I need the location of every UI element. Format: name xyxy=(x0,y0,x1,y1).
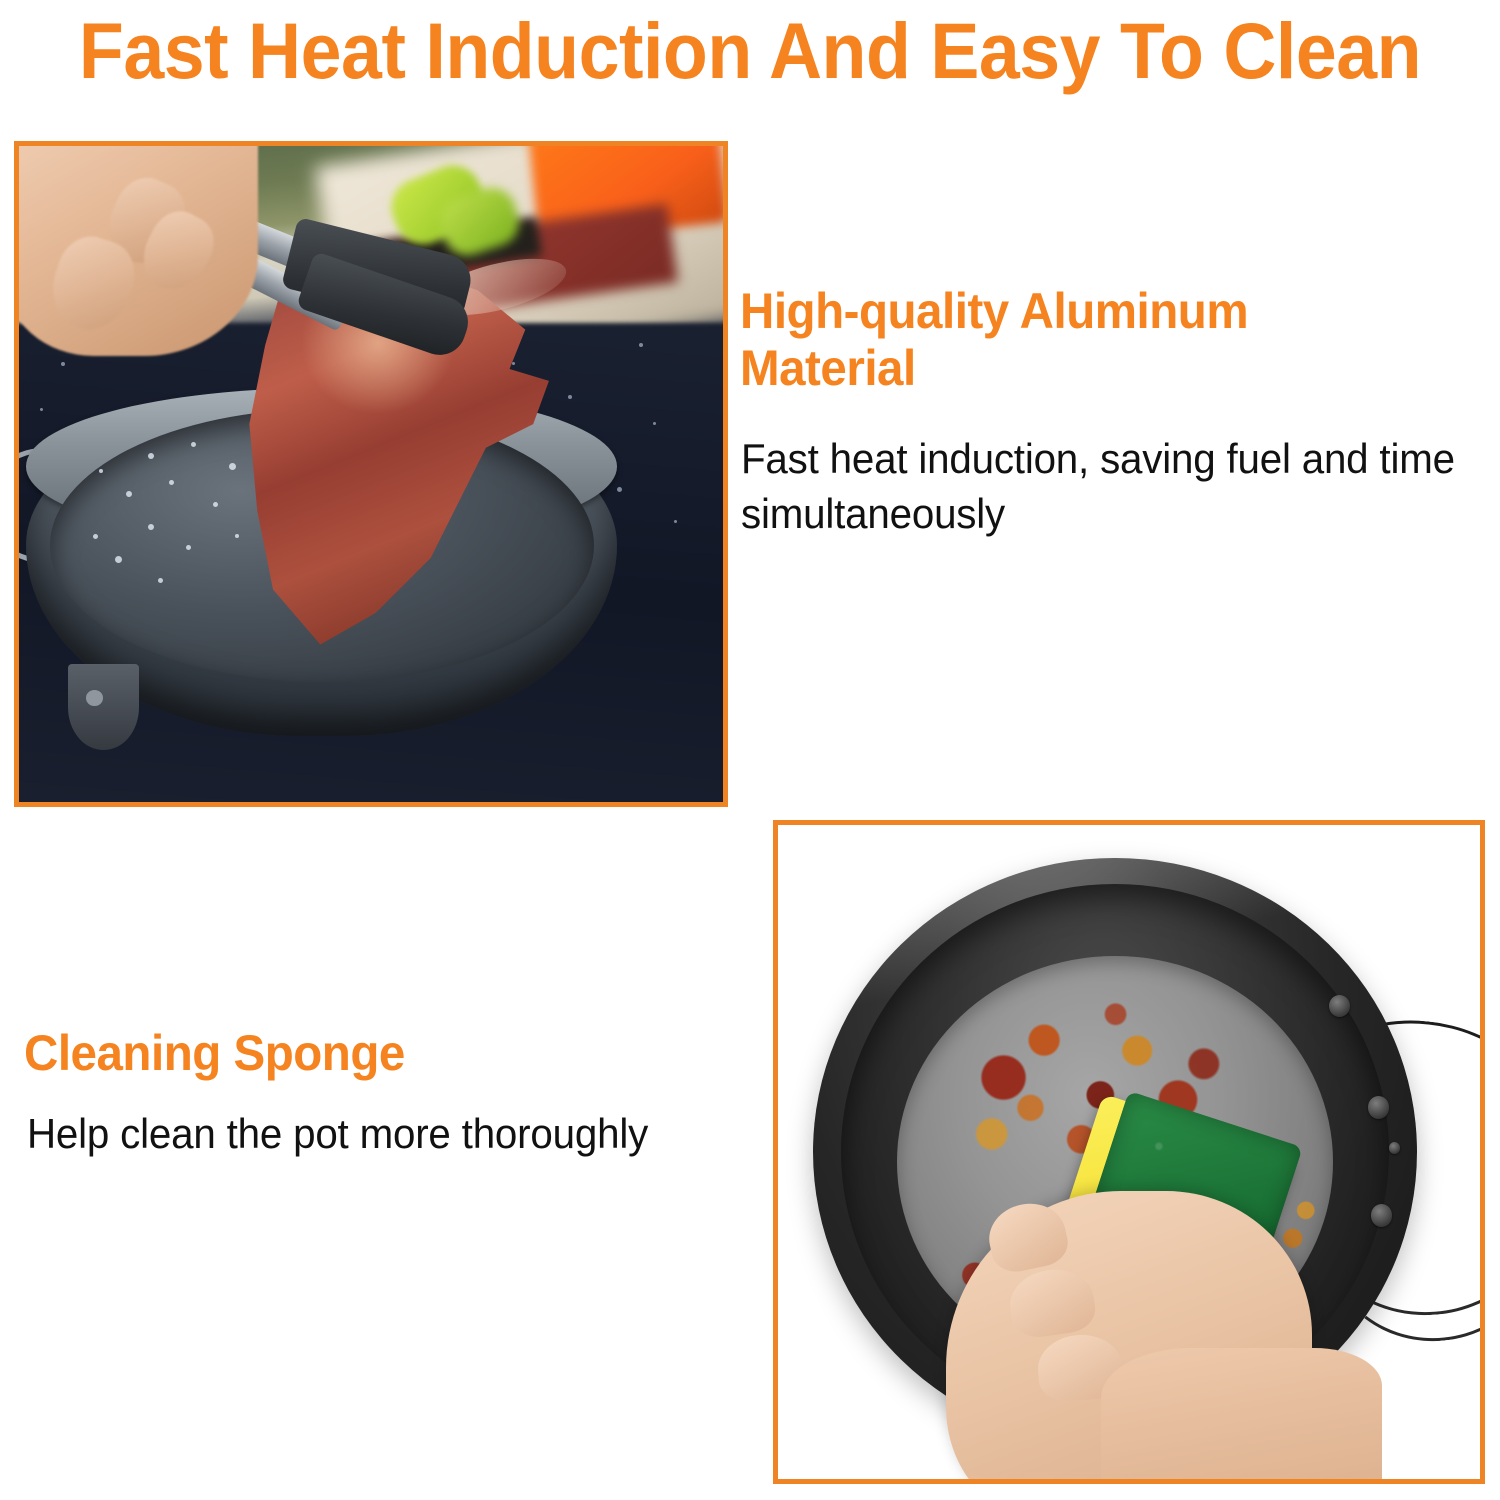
pan-rivet xyxy=(1389,1142,1400,1154)
feature-1-body: Fast heat induction, saving fuel and tim… xyxy=(741,432,1480,541)
feature-1-heading: High-quality Aluminum Material xyxy=(740,283,1405,397)
cooking-photo-content xyxy=(19,146,723,802)
page-title: Fast Heat Induction And Easy To Clean xyxy=(53,8,1448,93)
pan-rivet xyxy=(1368,1096,1389,1118)
bracket-screw xyxy=(86,690,103,706)
feature-2-body: Help clean the pot more thoroughly xyxy=(27,1107,661,1162)
cleaning-photo-content xyxy=(778,825,1480,1479)
cleaning-pan-photo xyxy=(773,820,1485,1484)
cooking-steak-photo xyxy=(14,141,728,807)
stove-bracket xyxy=(68,664,138,749)
feature-2-heading: Cleaning Sponge xyxy=(24,1025,632,1082)
infographic-page: Fast Heat Induction And Easy To Clean xyxy=(0,0,1500,1500)
pan-rivet xyxy=(1371,1204,1392,1226)
wrist xyxy=(1101,1348,1382,1479)
